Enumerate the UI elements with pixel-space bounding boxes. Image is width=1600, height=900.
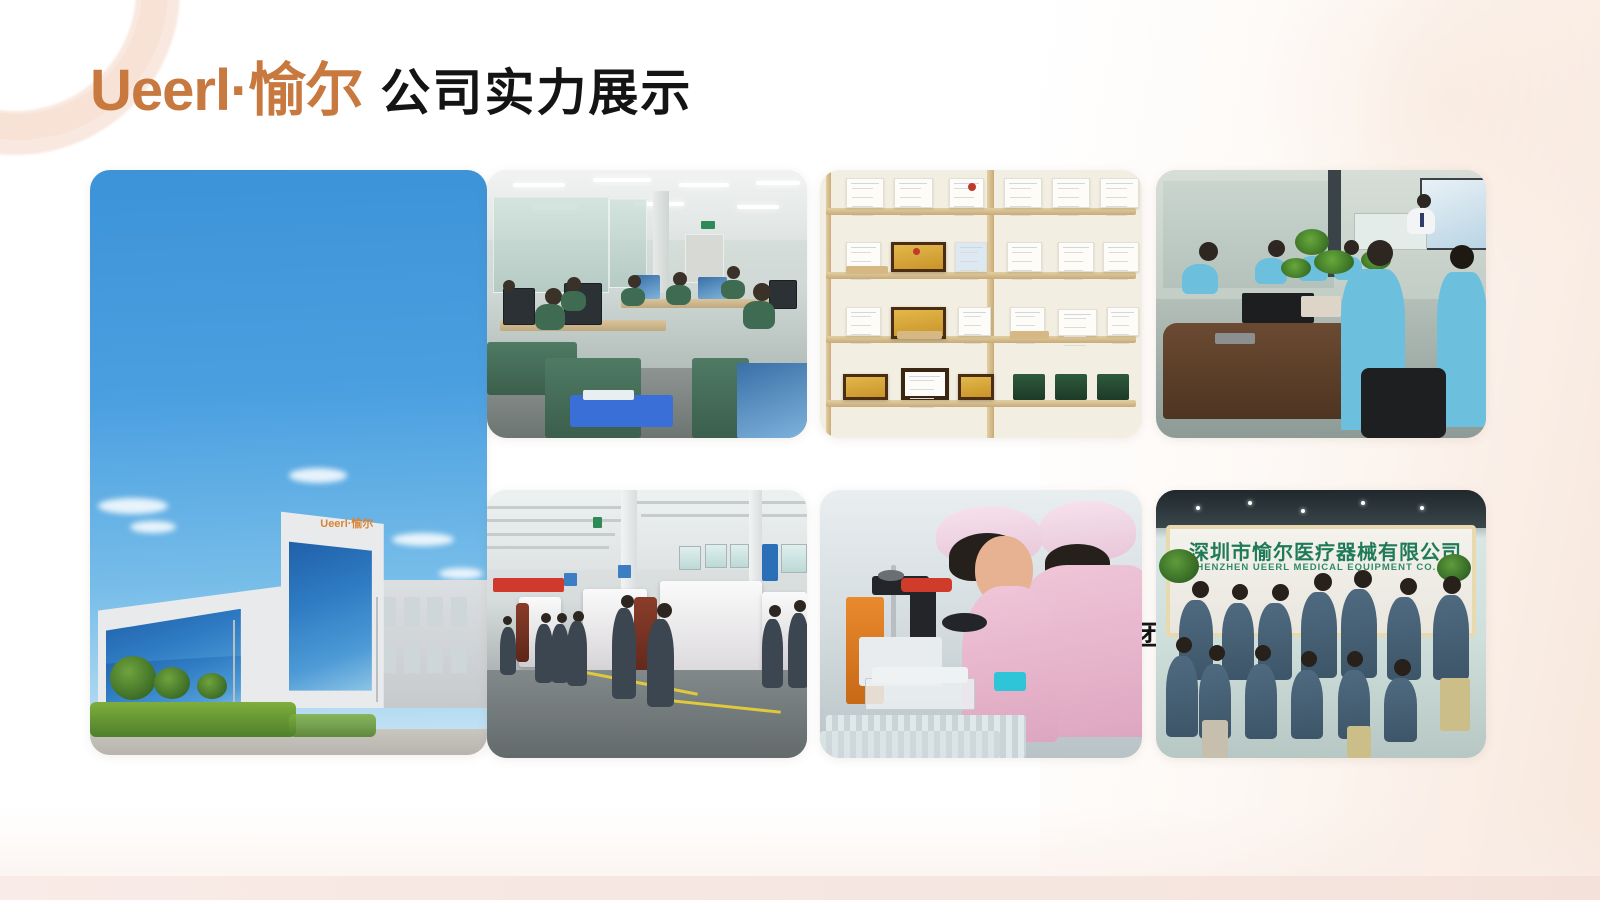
team-wall-text-en: SHENZHEN UEERL MEDICAL EQUIPMENT CO., LT… [1189,562,1464,573]
gallery-card-sales[interactable]: 资深销售 [1156,170,1486,438]
installation-photo [487,490,807,758]
page-header: Ueerl·愉尔 公司实力展示 [90,62,692,120]
quality-assembly-photo [820,490,1142,758]
gallery-card-rd[interactable]: 研发团队 [487,170,807,438]
gallery-card-quality[interactable]: 严苛品质 [820,490,1142,758]
page-title: 公司实力展示 [380,68,692,118]
gallery-card-install[interactable]: 技工安装 [487,490,807,758]
gallery-card-cert[interactable]: 国际认证 [820,170,1142,438]
brand-logo: Ueerl·愉尔 [90,62,362,120]
certificates-photo [820,170,1142,438]
factory-building-photo: Ueerl·愉尔 [90,170,487,755]
gallery-card-factory[interactable]: Ueerl·愉尔 10000+平方厂房 [90,170,487,755]
building-logo-sign: Ueerl·愉尔 [320,515,373,531]
rd-office-photo [487,170,807,438]
gallery-grid: Ueerl·愉尔 10000+平方厂房 [0,0,1600,900]
team-wall-text-cn: 深圳市愉尔医疗器械有限公司 [1189,536,1462,565]
team-photo: 深圳市愉尔医疗器械有限公司 SHENZHEN UEERL MEDICAL EQU… [1156,490,1486,758]
gallery-card-aftersale[interactable]: 深圳市愉尔医疗器械有限公司 SHENZHEN UEERL MEDICAL EQU… [1156,490,1486,758]
sales-meeting-photo [1156,170,1486,438]
